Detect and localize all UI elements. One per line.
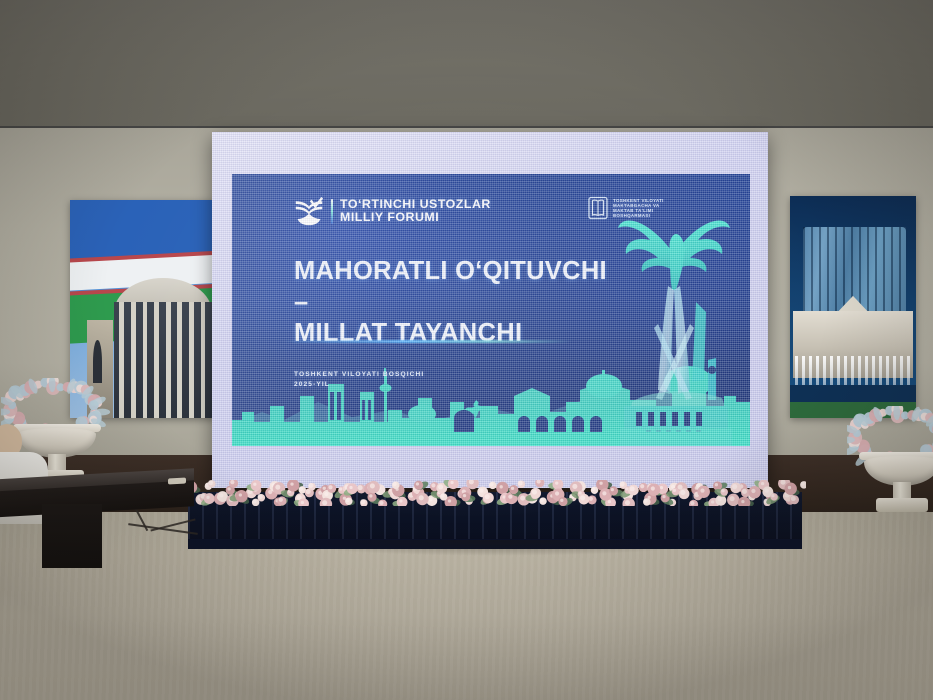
wall-upper: [0, 0, 933, 130]
slide-caption: TOSHKENT VILOYATI BOSQICHI 2025-YIL: [294, 370, 424, 390]
forum-brand-lockup: TO‘RTINCHI USTOZLAR MILLIY FORUMI: [294, 196, 491, 226]
caption-line-2: 2025-YIL: [294, 380, 424, 390]
stage-photograph: TO‘RTINCHI USTOZLAR MILLIY FORUMI TOSHKE…: [0, 0, 933, 700]
foreground-bench-leg: [42, 504, 102, 568]
poster-left-column: [119, 302, 124, 418]
led-video-wall[interactable]: TO‘RTINCHI USTOZLAR MILLIY FORUMI TOSHKE…: [212, 132, 768, 488]
poster-left-column: [131, 302, 136, 418]
open-book-icon: [588, 196, 608, 220]
poster-left-side-window: [93, 340, 102, 384]
headline-line-1: MAHORATLI O‘QITUVCHI –: [294, 257, 607, 316]
department-logo-lockup: TOSHKENT VILOYATI MAKTABGACHA VA MAKTAB …: [588, 196, 664, 220]
book-leaf-check-icon: [294, 196, 324, 226]
brand-divider: [331, 199, 333, 224]
poster-left-column: [189, 302, 194, 418]
caption-line-1: TOSHKENT VILOYATI BOSQICHI: [294, 370, 424, 380]
poster-left-column: [177, 302, 182, 418]
urn-foot: [876, 498, 928, 512]
poster-left-column: [154, 302, 159, 418]
slide-headline: MAHORATLI O‘QITUVCHI – MILLAT TAYANCHI: [294, 256, 624, 349]
poster-left-column: [201, 302, 206, 418]
independence-monument-icon: [614, 194, 734, 446]
presentation-slide: TO‘RTINCHI USTOZLAR MILLIY FORUMI TOSHKE…: [232, 174, 750, 446]
poster-left-column: [166, 302, 171, 418]
brand-line-2: MILLIY FORUMI: [340, 211, 491, 224]
headline-line-2: MILLAT TAYANCHI: [294, 318, 624, 349]
dept-line-4: BOSHQARMASI: [613, 213, 664, 218]
foreground-bench-edge-highlight: [168, 478, 186, 485]
poster-left-column: [143, 302, 148, 418]
slide-divider-glow: [282, 340, 572, 343]
urn-planter-right: [864, 392, 933, 512]
poster-left-building-body: [114, 302, 213, 418]
rose-garland: [186, 480, 806, 506]
stage-floor-shadow: [186, 540, 806, 562]
poster-hotel-fountain: [790, 196, 916, 418]
